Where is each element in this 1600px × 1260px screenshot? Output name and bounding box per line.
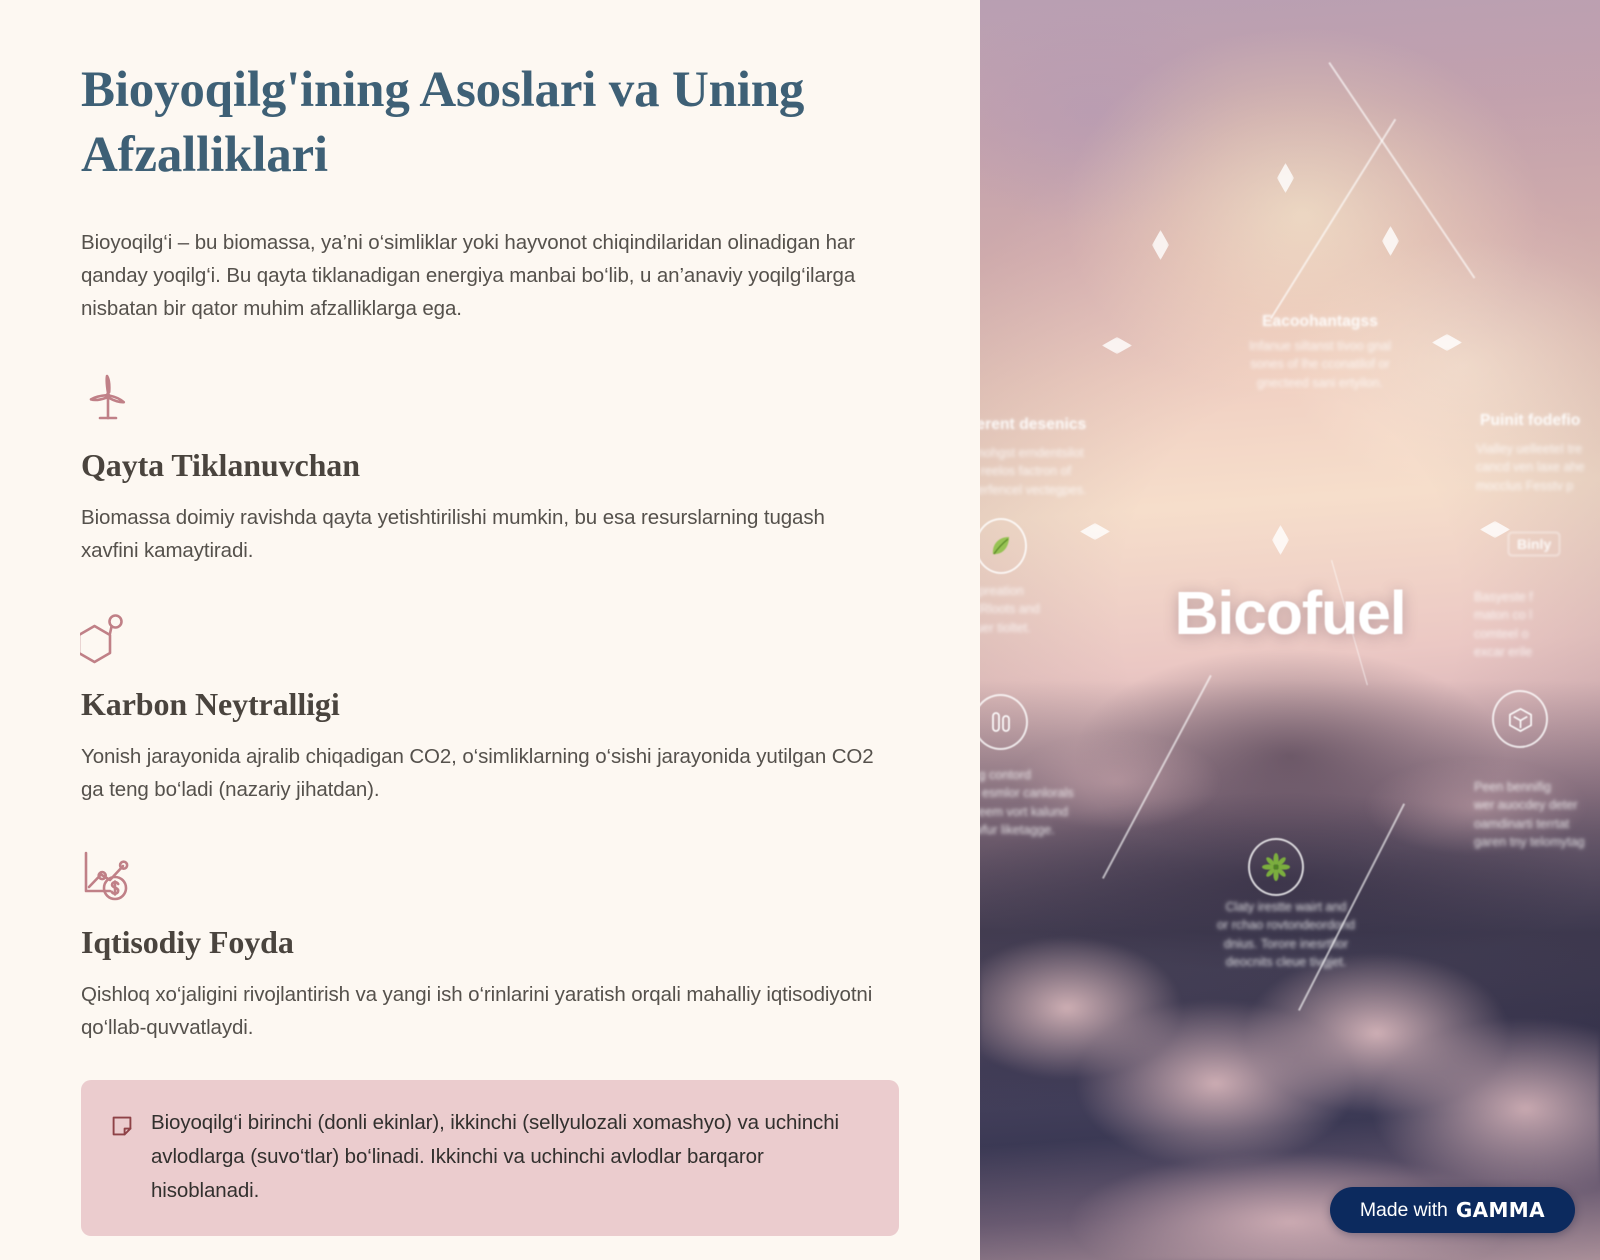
slide-root: Bioyoqilg'ining Asoslari va Uning Afzall… — [0, 0, 1600, 1260]
infographic-label-head: ierent desenics — [980, 416, 1152, 434]
connector-line — [1270, 119, 1396, 319]
infographic-overlay: Binly Eacoohantagss Infanue siltanst tiv… — [980, 0, 1600, 1260]
plant-icon — [1262, 853, 1290, 881]
molecule-hexagon-icon — [80, 609, 136, 665]
pill-tag-label: Binly — [1508, 532, 1560, 556]
cube-icon — [1507, 706, 1534, 733]
center-wordmark: Bicofuel — [980, 578, 1600, 648]
feature-body: Qishloq xo‘jaligini rivojlantirish va ya… — [81, 978, 881, 1044]
feature-title: Iqtisodiy Foyda — [81, 924, 900, 961]
callout-box: Bioyoqilg‘i birinchi (donli ekinlar), ik… — [81, 1080, 899, 1236]
infographic-label-body: Claty irestte wairt and or rchao rovtond… — [1186, 898, 1386, 971]
page-title: Bioyoqilg'ining Asoslari va Uning Afzall… — [81, 58, 881, 189]
leaf-icon — [988, 533, 1014, 559]
infographic-label-body: Infanue siltanst tivoo gnal sones of lhe… — [1198, 337, 1442, 392]
infographic-image-panel: Binly Eacoohantagss Infanue siltanst tiv… — [980, 0, 1600, 1260]
feature-title: Qayta Tiklanuvchan — [81, 447, 900, 484]
diamond-marker — [1277, 163, 1294, 193]
diamond-marker — [1382, 226, 1399, 256]
intro-paragraph: Bioyoqilg‘i – bu biomassa, ya’ni o‘simli… — [81, 226, 900, 326]
feature-item-economic-benefit: Iqtisodiy Foyda Qishloq xo‘jaligini rivo… — [81, 847, 900, 1044]
leaf-icon-badge — [980, 518, 1027, 574]
diamond-marker — [1480, 521, 1510, 538]
feature-title: Karbon Neytralligi — [81, 686, 900, 723]
feature-item-renewable: Qayta Tiklanuvchan Biomassa doimiy ravis… — [81, 370, 900, 567]
cube-icon-badge — [1492, 690, 1548, 748]
callout-text: Bioyoqilg‘i birinchi (donli ekinlar), ik… — [151, 1106, 869, 1208]
infographic-label-body: Peen bennifig wer auocdey deter oamdinar… — [1474, 778, 1600, 851]
plant-icon-badge — [1248, 838, 1304, 896]
diamond-marker — [1272, 525, 1289, 555]
feature-body: Biomassa doimiy ravishda qayta yetishtir… — [81, 501, 881, 567]
diamond-marker — [1152, 230, 1169, 260]
infographic-label-head: Puinit fodefio — [1480, 412, 1600, 430]
gamma-made-with-label: Made with — [1360, 1199, 1448, 1222]
fuel-drops-icon-badge — [980, 694, 1028, 750]
sticky-note-icon — [111, 1115, 133, 1142]
feature-item-carbon-neutral: Karbon Neytralligi Yonish jarayonida ajr… — [81, 609, 900, 806]
fuel-drops-icon — [988, 709, 1014, 735]
connector-line — [1329, 62, 1476, 278]
infographic-label-body: erting contord your esmlor canlorals I c… — [980, 766, 1134, 839]
feature-body: Yonish jarayonida ajralib chiqadigan CO2… — [81, 740, 881, 806]
diamond-marker — [1080, 523, 1110, 540]
chart-dollar-icon — [80, 847, 136, 903]
gamma-brand-label: GAMMA — [1456, 1198, 1545, 1222]
wind-turbine-icon — [80, 370, 136, 426]
infographic-label-body: Vialley uelleeteI tre cancd ven laxe ahe… — [1476, 440, 1600, 495]
infographic-label-body: y mohgst erndentsilot tel reelos factron… — [980, 444, 1134, 499]
content-panel: Bioyoqilg'ining Asoslari va Uning Afzall… — [0, 0, 980, 1260]
diamond-marker — [1102, 337, 1132, 354]
made-with-gamma-badge[interactable]: Made with GAMMA — [1330, 1187, 1575, 1233]
infographic-label-head: Eacoohantagss — [1220, 313, 1420, 331]
